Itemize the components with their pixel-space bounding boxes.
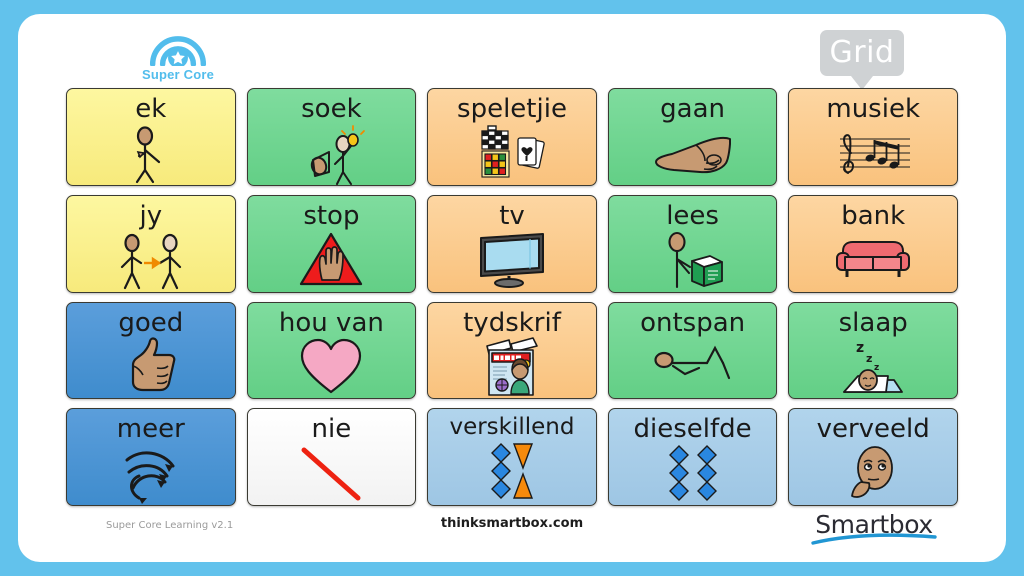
grid-cell-tv[interactable]: tv	[427, 195, 597, 293]
grid-cell-soek[interactable]: soek	[247, 88, 417, 186]
diamonds-and-triangles-different-icon	[428, 439, 596, 505]
grid-cell-stop[interactable]: stop	[247, 195, 417, 293]
red-diagonal-slash-icon	[248, 442, 416, 506]
supercore-wordmark: Super Core	[118, 67, 238, 82]
red-sofa-icon	[789, 229, 957, 292]
grid-cell-label: musiek	[826, 96, 920, 122]
smartbox-logo: Smartbox	[804, 510, 944, 545]
grid-cell-label: nie	[312, 416, 352, 442]
grid-cell-label: stop	[303, 203, 359, 229]
musical-notes-stave-icon	[789, 122, 957, 185]
grid-cell-bank[interactable]: bank	[788, 195, 958, 293]
grid-cell-label: dieselfde	[634, 416, 752, 442]
grid-cell-label: ontspan	[640, 310, 745, 336]
matching-diamonds-same-icon	[609, 442, 777, 506]
header: Super Core Grid	[18, 14, 1006, 86]
grid-cell-label: goed	[118, 310, 183, 336]
grid-cell-musiek[interactable]: musiek	[788, 88, 958, 186]
grid-cell-label: tydskrif	[463, 310, 561, 336]
pink-heart-icon	[248, 336, 416, 399]
grid-cell-label: slaap	[839, 310, 908, 336]
grid-wordmark: Grid	[830, 38, 895, 68]
svg-text:z: z	[866, 352, 872, 365]
magazine-icon	[428, 336, 596, 400]
grid-cell-slaap[interactable]: slaap z z z	[788, 302, 958, 400]
grid-cell-meer[interactable]: meer	[66, 408, 236, 506]
grid-cell-label: jy	[139, 203, 162, 229]
grid-cell-label: meer	[117, 416, 185, 442]
grid-cell-label: verskillend	[449, 416, 574, 439]
grid-cell-verveeld[interactable]: verveeld	[788, 408, 958, 506]
sleeping-head-zzz-icon: z z z	[789, 336, 957, 400]
grid-cell-speletjie[interactable]: speletjie	[427, 88, 597, 186]
grid-logo: Grid	[820, 30, 904, 90]
speech-bubble-icon: Grid	[820, 30, 904, 76]
grid-cell-label: lees	[666, 203, 719, 229]
grid-cell-label: ek	[135, 96, 166, 122]
footer: Super Core Learning v2.1 thinksmartbox.c…	[18, 510, 1006, 550]
grid-cell-tydskrif[interactable]: tydskrif	[427, 302, 597, 400]
television-icon	[428, 229, 596, 292]
supercore-logo: Super Core	[118, 28, 238, 82]
grid-cell-label: gaan	[660, 96, 725, 122]
person-reading-book-icon	[609, 229, 777, 293]
grid-cell-nie[interactable]: nie	[247, 408, 417, 506]
grid-cell-lees[interactable]: lees	[608, 195, 778, 293]
grid-cell-dieselfde[interactable]: dieselfde	[608, 408, 778, 506]
grid-cell-jy[interactable]: jy	[66, 195, 236, 293]
svg-text:z: z	[874, 363, 879, 373]
thumbs-up-icon	[67, 336, 235, 399]
grid-cell-ontspan[interactable]: ontspan	[608, 302, 778, 400]
grid-cell-label: hou van	[279, 310, 384, 336]
grid-cell-label: tv	[499, 203, 525, 229]
person-pointing-to-self-icon	[67, 122, 235, 186]
grid-cell-ek[interactable]: ek	[66, 88, 236, 186]
grid-cell-label: soek	[301, 96, 362, 122]
circular-arrows-more-icon	[67, 442, 235, 506]
pointing-hand-icon	[609, 122, 777, 185]
app-window: Super Core Grid ek soek	[18, 14, 1006, 562]
grid-cell-label: verveeld	[817, 416, 930, 442]
board-game-and-cards-icon	[428, 122, 596, 186]
svg-text:z: z	[856, 340, 864, 356]
supercore-radar-star-icon	[149, 28, 207, 66]
grid-cell-label: speletjie	[457, 96, 567, 122]
two-people-searching-light-icon	[248, 122, 416, 186]
person-lying-relaxed-icon	[609, 336, 777, 399]
grid-cell-hou-van[interactable]: hou van	[247, 302, 417, 400]
grid-cell-label: bank	[841, 203, 905, 229]
bored-face-icon	[789, 442, 957, 506]
red-triangle-hand-stop-icon	[248, 229, 416, 292]
grid-cell-gaan[interactable]: gaan	[608, 88, 778, 186]
grid-cell-verskillend[interactable]: verskillend	[427, 408, 597, 506]
grid-cell-goed[interactable]: goed	[66, 302, 236, 400]
symbol-grid: ek soek speletjie	[66, 88, 958, 506]
two-people-arrow-icon	[67, 229, 235, 293]
